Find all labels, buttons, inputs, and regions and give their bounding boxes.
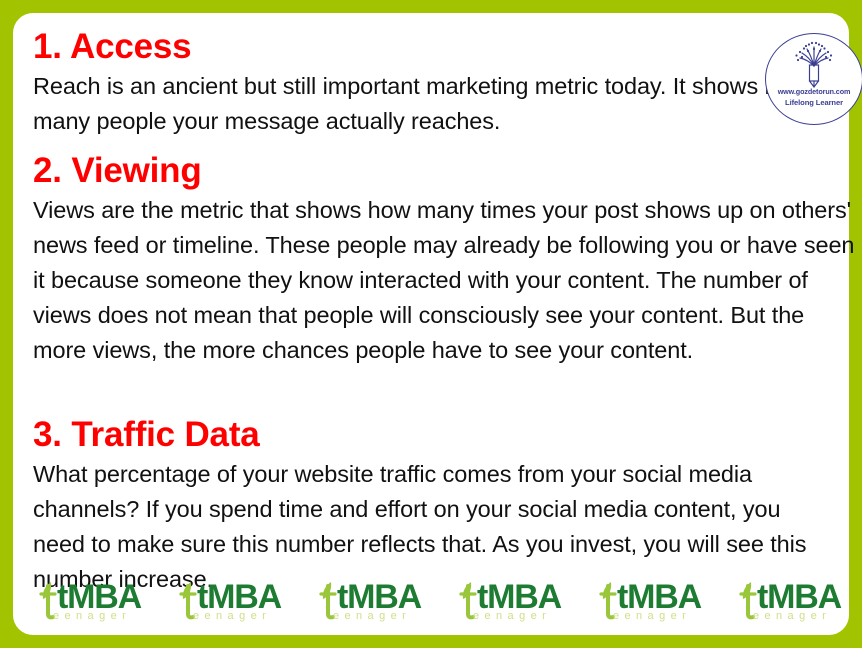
content-panel: 1. Access Reach is an ancient but still … bbox=[13, 13, 849, 635]
tmba-subtext: eenager bbox=[193, 610, 271, 622]
section-title-2: 2. Viewing bbox=[33, 149, 855, 193]
tmba-wordmark: tMBA bbox=[57, 580, 141, 614]
tmba-subtext: eenager bbox=[53, 610, 131, 622]
content-area: 1. Access Reach is an ancient but still … bbox=[33, 19, 833, 635]
section-title-3: 3. Traffic Data bbox=[33, 413, 833, 457]
tmba-subtext: eenager bbox=[473, 610, 551, 622]
tmba-subtext: eenager bbox=[613, 610, 691, 622]
section-title-1: 1. Access bbox=[33, 25, 851, 69]
tmba-wordmark: tMBA bbox=[337, 580, 421, 614]
tmba-subtext: eenager bbox=[333, 610, 411, 622]
section-viewing: 2. Viewing Views are the metric that sho… bbox=[33, 149, 855, 368]
tmba-wordmark: tMBA bbox=[477, 580, 561, 614]
tmba-logo: tMBA eenager bbox=[735, 580, 853, 626]
section-body-2: Views are the metric that shows how many… bbox=[33, 193, 855, 368]
tmba-logo: tMBA eenager bbox=[35, 580, 153, 626]
tmba-logo: tMBA eenager bbox=[315, 580, 433, 626]
badge-url-text: www.gozdetorun.com bbox=[765, 87, 862, 96]
section-access: 1. Access Reach is an ancient but still … bbox=[33, 25, 851, 139]
tmba-logo: tMBA eenager bbox=[455, 580, 573, 626]
tmba-wordmark: tMBA bbox=[197, 580, 281, 614]
section-traffic-data: 3. Traffic Data What percentage of your … bbox=[33, 413, 833, 597]
section-body-3: What percentage of your website traffic … bbox=[33, 457, 833, 597]
tmba-wordmark: tMBA bbox=[757, 580, 841, 614]
slide-root: 1. Access Reach is an ancient but still … bbox=[0, 0, 862, 648]
footer-logo-strip: tMBA eenager tMBA eenager bbox=[13, 580, 849, 626]
tmba-subtext: eenager bbox=[753, 610, 831, 622]
brand-badge: www.gozdetorun.com Lifelong Learner bbox=[765, 33, 862, 125]
tmba-logo: tMBA eenager bbox=[175, 580, 293, 626]
tmba-logo: tMBA eenager bbox=[595, 580, 713, 626]
tmba-wordmark: tMBA bbox=[617, 580, 701, 614]
section-body-1: Reach is an ancient but still important … bbox=[33, 69, 823, 139]
badge-tagline-text: Lifelong Learner bbox=[765, 98, 862, 107]
